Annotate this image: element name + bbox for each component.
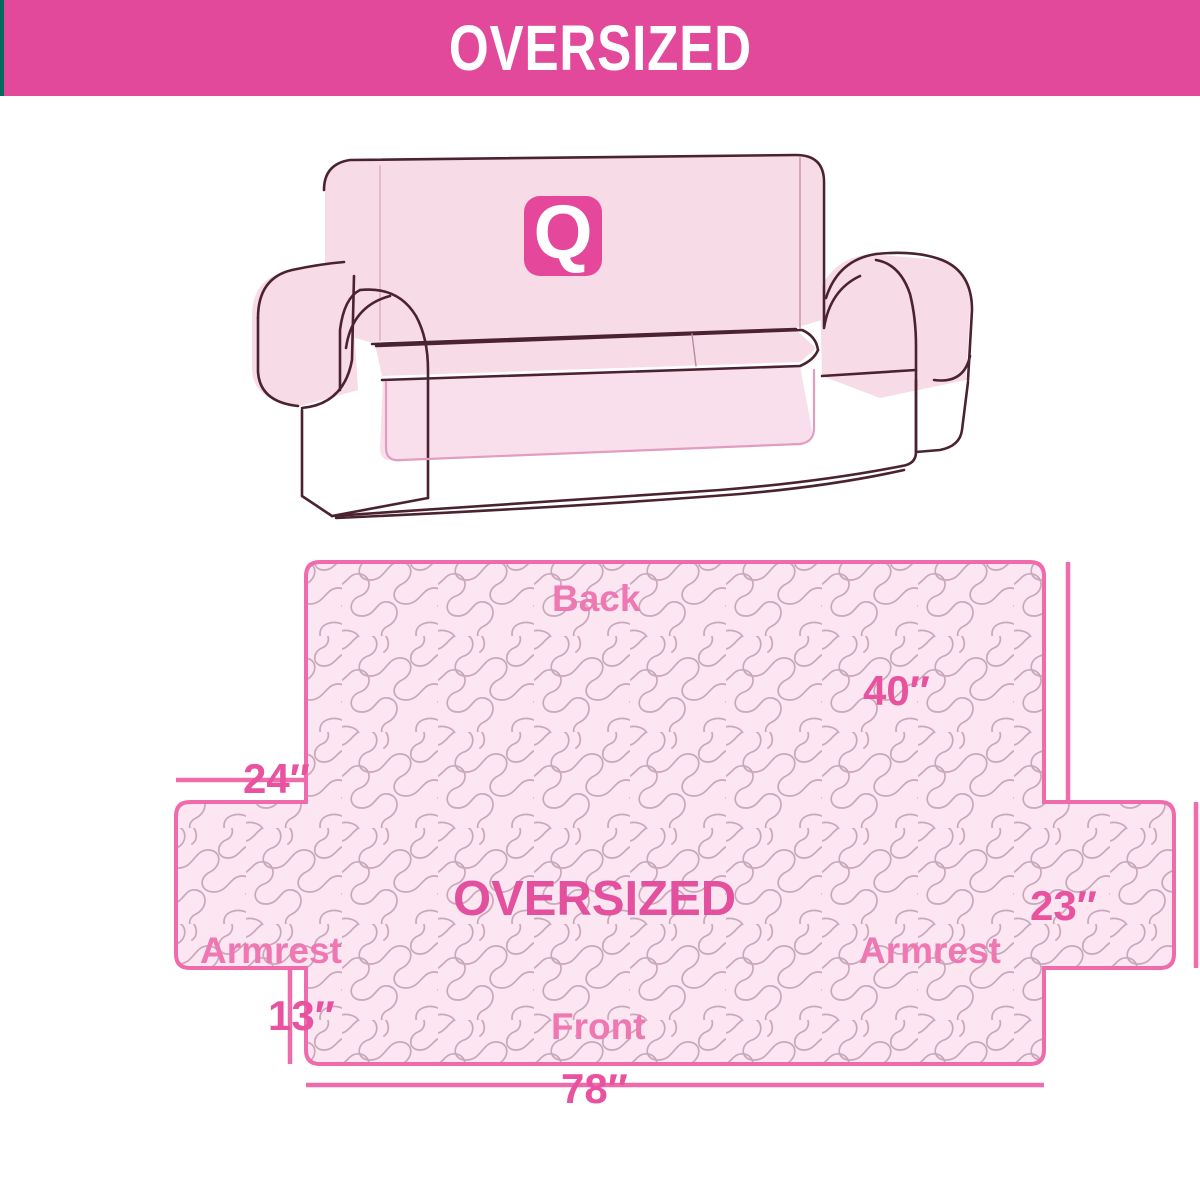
sofa-right-arm-right-edge xyxy=(916,382,968,452)
panel-label-front: Front xyxy=(551,1008,646,1045)
sofa-illustration: Q xyxy=(240,130,980,520)
measurement-label-back-height: 40″ xyxy=(863,670,930,712)
panel-label-back: Back xyxy=(552,580,640,617)
sofa-line-drawing-svg: Q xyxy=(240,130,980,520)
sofa-right-arm-fill xyxy=(820,254,970,398)
header-banner: OVERSIZED xyxy=(0,0,1200,96)
dimension-diagram: 40″ 24″ 23″ 13″ 78″ Back Front Armrest A… xyxy=(150,540,1200,1140)
sofa-base-rail xyxy=(332,466,902,516)
measurement-label-armrest-height: 23″ xyxy=(1030,885,1097,927)
header-accent-strip xyxy=(0,0,4,96)
measurement-label-front-drop: 13″ xyxy=(268,995,335,1037)
brand-logo-letter: Q xyxy=(533,190,592,275)
measurement-label-total-width: 78″ xyxy=(561,1068,628,1110)
page-title: OVERSIZED xyxy=(448,16,751,80)
slipcover-cross-shape xyxy=(176,562,1174,1064)
sofa-left-body-side xyxy=(302,410,332,516)
brand-logo: Q xyxy=(524,190,602,276)
diagram-center-label: OVERSIZED xyxy=(453,875,736,924)
panel-label-armrest-left: Armrest xyxy=(200,932,342,969)
slipcover-flat-layout-svg xyxy=(150,540,1200,1140)
measurement-label-armrest-width: 24″ xyxy=(243,758,310,800)
panel-label-armrest-right: Armrest xyxy=(859,932,1001,969)
